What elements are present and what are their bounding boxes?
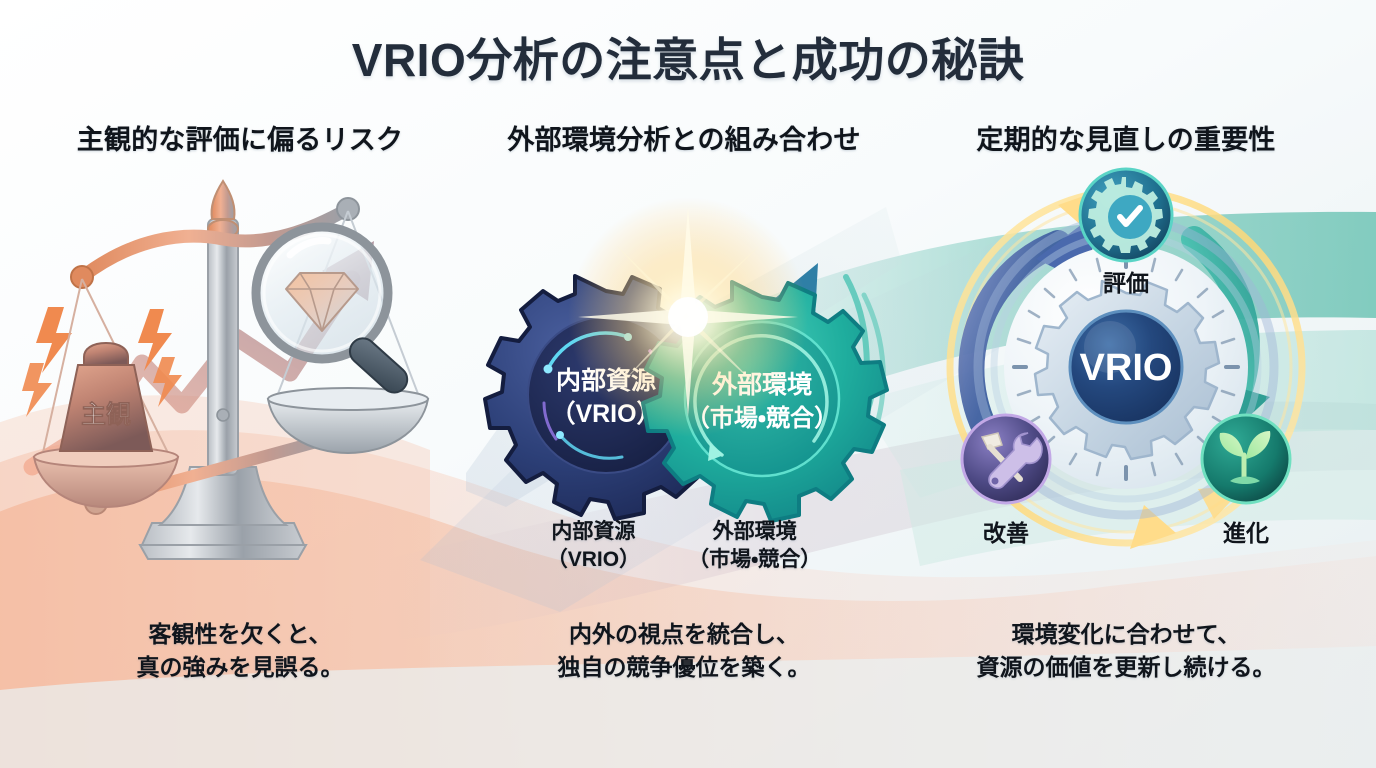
- caption-line-1: 客観性を欠くと、: [22, 618, 458, 651]
- node-label-evaluation: 評価: [1103, 270, 1149, 296]
- caption-line-1: 環境変化に合わせて、: [908, 618, 1344, 651]
- interlocking-gears-illustration: 内部資源 （VRIO） 外部環境 （市場・競合）: [466, 167, 902, 567]
- column-subjective-risk: 主観的な評価に偏るリスク: [22, 118, 458, 718]
- caption-line-2: 独自の競争優位を築く。: [466, 651, 902, 684]
- column-caption: 環境変化に合わせて、 資源の価値を更新し続ける。: [908, 618, 1344, 683]
- column-heading: 主観的な評価に偏るリスク: [22, 118, 458, 157]
- node-label-improvement: 改善: [983, 520, 1029, 546]
- gear-left-caption-line1: 内部資源: [547, 518, 640, 546]
- balance-scale-illustration: 主観: [22, 167, 458, 567]
- column-periodic-review: 定期的な見直しの重要性: [908, 118, 1344, 718]
- sparkle-icon: [568, 197, 808, 437]
- gear-right-caption-line2: （市場・競合）: [688, 546, 821, 574]
- node-evolution: [1202, 415, 1290, 503]
- caption-line-2: 資源の価値を更新し続ける。: [908, 651, 1344, 684]
- gear-left-caption: 内部資源 （VRIO）: [547, 518, 640, 575]
- column-external-combination: 外部環境分析との組み合わせ: [466, 118, 902, 718]
- caption-line-1: 内外の視点を統合し、: [466, 618, 902, 651]
- page-title: VRIO分析の注意点と成功の秘訣: [0, 24, 1376, 90]
- gear-right-caption-line1: 外部環境: [688, 518, 821, 546]
- scale-column: [208, 219, 238, 475]
- column-heading: 定期的な見直しの重要性: [908, 118, 1344, 157]
- weight-label: 主観: [81, 401, 131, 429]
- infographic-canvas: VRIO分析の注意点と成功の秘訣 主観的な評価に偏るリスク: [0, 0, 1376, 768]
- column-caption: 内外の視点を統合し、 独自の競争優位を築く。: [466, 618, 902, 683]
- node-evaluation: [1080, 169, 1172, 261]
- node-label-evolution: 進化: [1223, 520, 1269, 546]
- cycle-center-label: VRIO: [1080, 347, 1173, 389]
- improvement-cycle-illustration: VRIO 評価: [908, 167, 1344, 567]
- gear-left-caption-line2: （VRIO）: [547, 546, 640, 574]
- caption-line-2: 真の強みを見誤る。: [22, 651, 458, 684]
- scale-finial: [211, 181, 234, 219]
- node-improvement: [962, 415, 1050, 503]
- gear-caption-row: 内部資源 （VRIO） 外部環境 （市場・競合）: [466, 518, 902, 575]
- gear-right-caption: 外部環境 （市場・競合）: [688, 518, 821, 575]
- column-heading: 外部環境分析との組み合わせ: [466, 118, 902, 157]
- column-caption: 客観性を欠くと、 真の強みを見誤る。: [22, 618, 458, 683]
